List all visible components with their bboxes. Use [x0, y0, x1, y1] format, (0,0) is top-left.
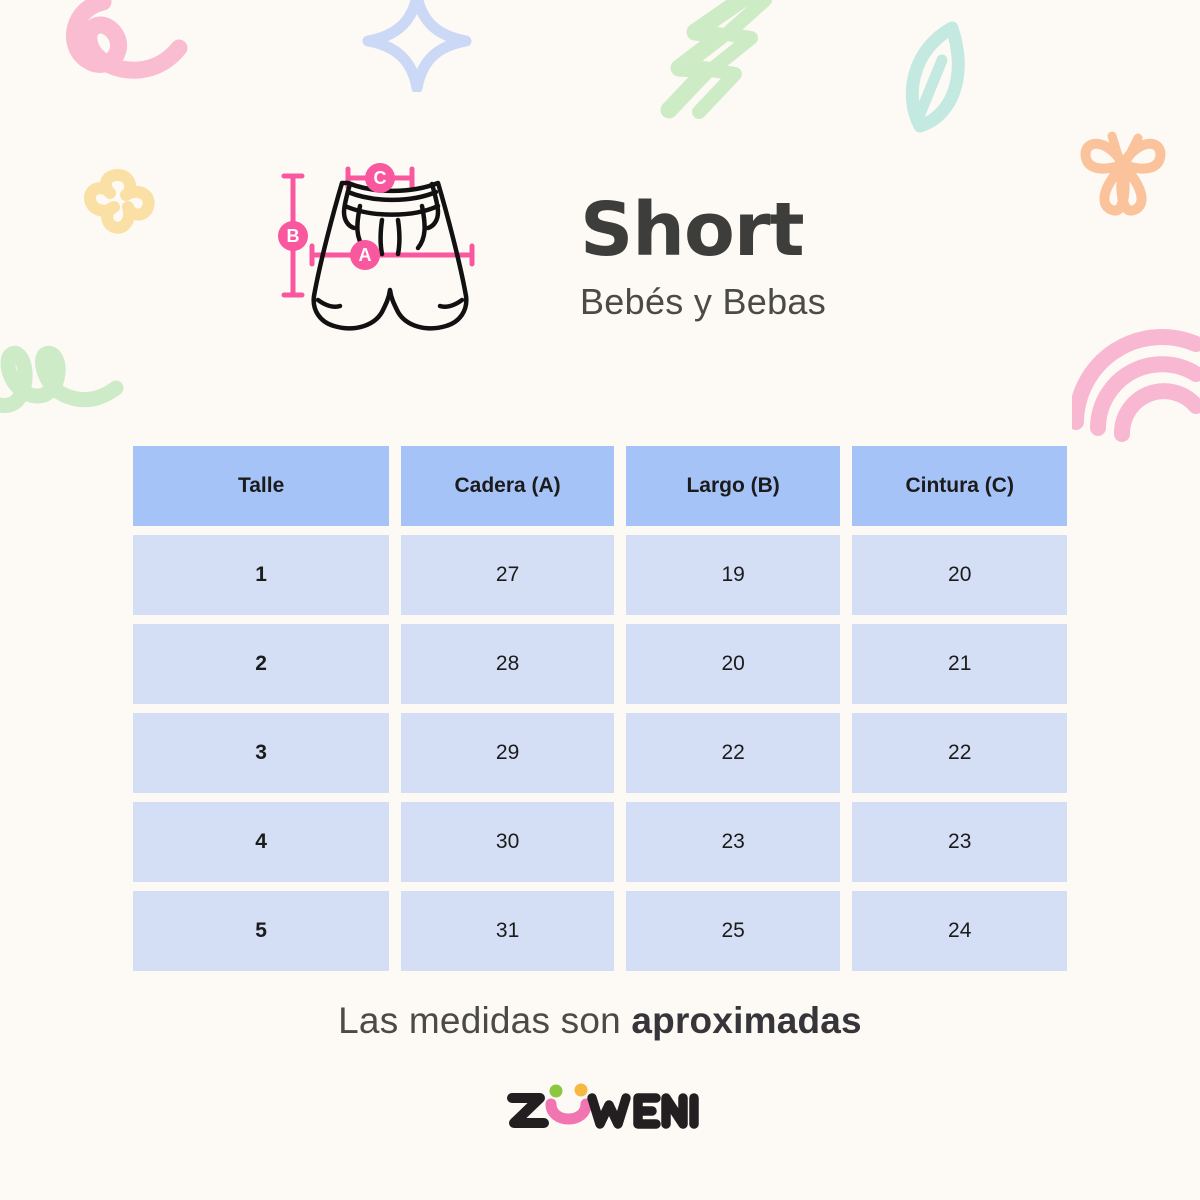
table-row: 3 29 22 22 [133, 713, 1067, 793]
table-row: 1 27 19 20 [133, 535, 1067, 615]
column-header-cintura: Cintura (C) [852, 446, 1067, 526]
svg-text:A: A [359, 245, 372, 265]
cell-cadera: 29 [401, 713, 614, 793]
cell-talle: 2 [133, 624, 389, 704]
header: C B A Short Bebés y Bebas [0, 150, 1200, 365]
cell-largo: 20 [626, 624, 841, 704]
logo-eye-left [550, 1085, 563, 1098]
cell-cadera: 27 [401, 535, 614, 615]
cell-largo: 19 [626, 535, 841, 615]
svg-text:C: C [374, 168, 387, 188]
table-row: 4 30 23 23 [133, 802, 1067, 882]
cell-cadera: 30 [401, 802, 614, 882]
cell-cintura: 23 [852, 802, 1067, 882]
table-header-row: Talle Cadera (A) Largo (B) Cintura (C) [133, 446, 1067, 526]
page-subtitle: Bebés y Bebas [580, 281, 940, 323]
badge-C: C [365, 163, 395, 193]
brand-logo [0, 1078, 1200, 1136]
cell-cadera: 31 [401, 891, 614, 971]
swirl-doodle-icon [55, 0, 205, 100]
badge-A: A [350, 240, 380, 270]
size-chart-table: Talle Cadera (A) Largo (B) Cintura (C) 1… [133, 446, 1067, 971]
cell-cintura: 22 [852, 713, 1067, 793]
cell-largo: 22 [626, 713, 841, 793]
cell-talle: 4 [133, 802, 389, 882]
table-row: 5 31 25 24 [133, 891, 1067, 971]
shorts-measurement-diagram: C B A [260, 150, 520, 365]
note-bold-text: aproximadas [631, 1000, 861, 1041]
svg-text:B: B [287, 226, 300, 246]
cell-talle: 1 [133, 535, 389, 615]
title-block: Short Bebés y Bebas [580, 193, 940, 323]
column-header-talle: Talle [133, 446, 389, 526]
cell-cadera: 28 [401, 624, 614, 704]
approximate-measures-note: Las medidas son aproximadas [0, 1000, 1200, 1042]
note-light-text: Las medidas son [338, 1000, 631, 1041]
lightning-doodle-icon [655, 0, 775, 120]
table-row: 2 28 20 21 [133, 624, 1067, 704]
cell-largo: 25 [626, 891, 841, 971]
cell-talle: 3 [133, 713, 389, 793]
logo-smile [551, 1104, 586, 1119]
column-header-largo: Largo (B) [626, 446, 841, 526]
sparkle-doodle-icon [362, 0, 472, 92]
cell-cintura: 24 [852, 891, 1067, 971]
logo-eye-right [575, 1084, 588, 1097]
cell-talle: 5 [133, 891, 389, 971]
cell-largo: 23 [626, 802, 841, 882]
cell-cintura: 21 [852, 624, 1067, 704]
page-title: Short [580, 193, 940, 267]
cell-cintura: 20 [852, 535, 1067, 615]
leaf-doodle-icon [890, 18, 980, 138]
column-header-cadera: Cadera (A) [401, 446, 614, 526]
zuweni-logo-icon [500, 1078, 700, 1136]
badge-B: B [278, 221, 308, 251]
